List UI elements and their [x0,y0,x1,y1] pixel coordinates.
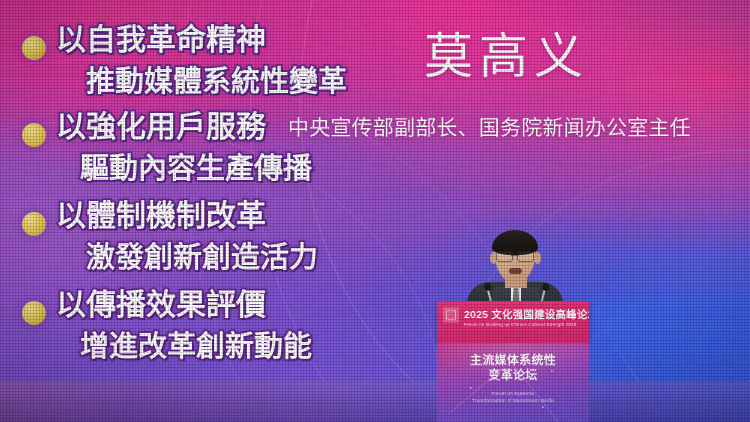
gold-dot-icon [22,301,46,325]
broadcast-frame: 莫高义 中央宣传部副部长、国务院新闻办公室主任 以自我革命精神 推動媒體系統性變… [0,0,750,422]
key-point-line-2: 推動媒體系統性變革 [86,68,347,98]
glasses-bridge [511,255,519,256]
speaker-title: 中央宣传部副部长、国务院新闻办公室主任 [288,118,691,139]
gold-dot-icon [22,36,46,60]
podium-sign-chinese-line-2: 变革论坛 [437,368,589,383]
podium-sign-english-line-1: Forum on Systemic [437,391,589,398]
key-point-line-1: 以自我革命精神 [56,26,266,57]
gold-dot-icon [22,123,46,147]
key-point-line-2: 增進改革創新動能 [80,333,312,363]
key-point-line-1: 以體制機制改革 [56,202,266,233]
podium-sign-dot-2 [542,406,544,408]
podium-banner-chinese: 2025 文化强国建设高峰论坛 [464,307,589,322]
podium-sign-english: Forum on Systemic Transformation of Main… [437,391,589,405]
key-point-line-1: 以強化用戶服務 [56,113,266,144]
podium-sign-chinese: 主流媒体系统性 变革论坛 [437,353,589,384]
background-blue-glow [565,300,750,385]
gold-dot-icon [22,212,46,236]
key-point-line-2: 驅動內容生產傳播 [80,155,312,185]
glasses-lens-left [496,251,513,262]
stage-lower-band [0,382,750,422]
key-point-line-2: 激發創新創造活力 [86,244,318,274]
podium-sign-dot-3 [470,387,472,389]
forum-emblem-icon [443,307,459,323]
speaker-ear-right [534,252,541,264]
speaker-name: 莫高义 [424,33,589,82]
podium-banner-english: Forum on Building up China's Cultural St… [464,322,576,327]
glasses-lens-right [517,251,534,262]
speaker-mouth [509,268,522,274]
key-point-line-1: 以傳播效果評價 [56,291,266,322]
podium-sign-chinese-line-1: 主流媒体系统性 [437,353,589,368]
podium-front-sign: 主流媒体系统性 变革论坛 Forum on Systemic Transform… [437,343,589,422]
podium-sign-english-line-2: Transformation of Mainstream Media [437,398,589,405]
podium-banner: 2025 文化强国建设高峰论坛 Forum on Building up Chi… [437,301,589,343]
speaker-glasses [496,251,534,260]
